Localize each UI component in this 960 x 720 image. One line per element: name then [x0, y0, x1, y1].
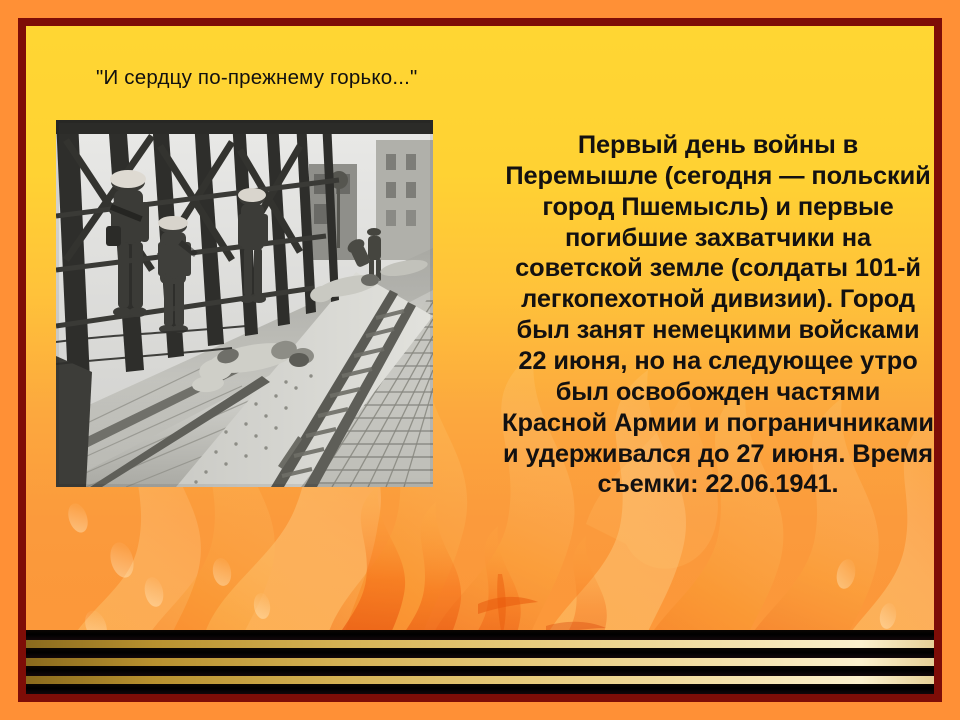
ribbon-stripe-gold — [26, 658, 934, 666]
ribbon-stripe-black — [26, 666, 934, 676]
ribbon-stripe-black — [26, 630, 934, 640]
slide-title: "И сердцу по-прежнему горько..." — [96, 66, 418, 90]
ribbon-stripe-gold — [26, 640, 934, 648]
ribbon-stripe-black — [26, 684, 934, 694]
presentation-slide: "И сердцу по-прежнему горько..." — [0, 0, 960, 720]
slide-frame-border: "И сердцу по-прежнему горько..." — [18, 18, 942, 702]
historical-photo — [56, 120, 433, 487]
ribbon-stripe-gold — [26, 676, 934, 684]
slide-body-text: Первый день войны в Перемышле (сегодня —… — [502, 130, 934, 500]
ribbon-stripe-black — [26, 648, 934, 658]
st-george-ribbon — [26, 630, 934, 692]
